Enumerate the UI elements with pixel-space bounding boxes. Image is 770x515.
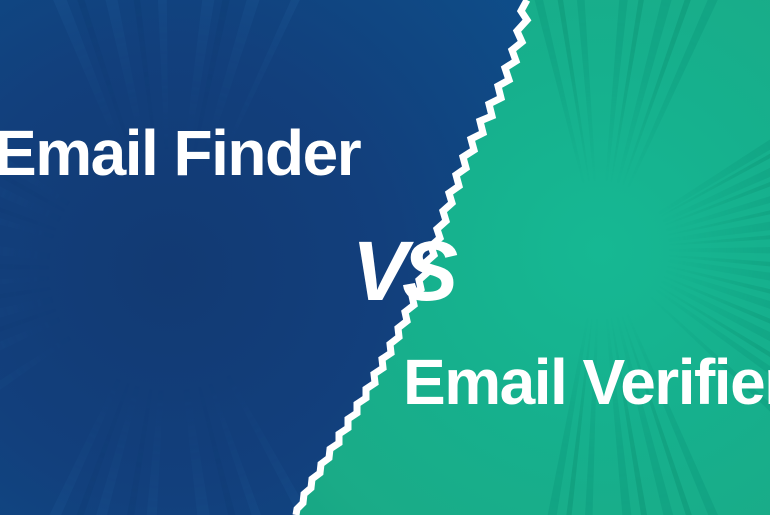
versus-banner: Email Finder xyxy=(0,0,770,515)
versus-label: VS xyxy=(352,229,452,313)
